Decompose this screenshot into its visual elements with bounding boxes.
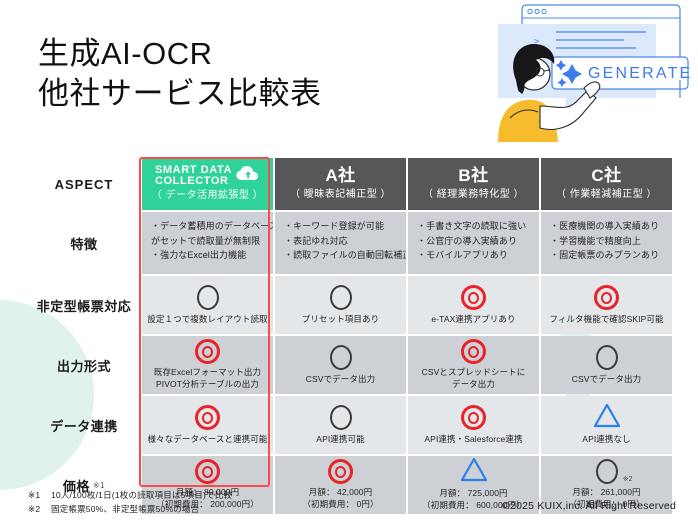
rating-circle-icon	[330, 345, 352, 370]
rating-circle-icon	[596, 459, 618, 484]
cell-r3-c0: 様々なデータベースと連携可能	[142, 396, 273, 454]
footnote-text: 固定帳票50%、非定型帳票50%の場合	[51, 502, 199, 516]
row-label-0: 特徴	[28, 212, 140, 274]
cell-r1-c0: 設定１つで複数レイアウト読取	[142, 276, 273, 334]
cell-note-line: データ出力	[422, 378, 526, 390]
cell-note-line: PIVOT分析テーブルの出力	[154, 378, 261, 390]
rating-double-circle-icon	[461, 339, 486, 364]
column-subtitle: （ 作業軽減補正型 ）	[556, 188, 657, 202]
feature-bullet: ・学習機能で精度向上	[550, 234, 664, 249]
rating-circle-icon	[596, 345, 618, 370]
cell-note-line: API連携なし	[582, 433, 630, 445]
column-company-name: B社	[458, 166, 488, 186]
column-subtitle: （ データ活用拡張型 ）	[152, 189, 264, 203]
feature-bullet: ・読取ファイルの自動回転補正	[284, 248, 398, 263]
column-company-name: C社	[591, 166, 621, 186]
page-title-line-2: 他社サービス比較表	[38, 74, 322, 114]
row-label-2: 出力形式	[28, 336, 140, 394]
cell-note: 設定１つで複数レイアウト読取	[147, 313, 267, 325]
cell-note-line: 既存Excelフォーマット出力	[154, 366, 261, 378]
cell-note: CSVでデータ出力	[306, 373, 375, 385]
cell-r0-c1: ・キーワード登録が可能・表記ゆれ対応・読取ファイルの自動回転補正	[275, 212, 406, 274]
cell-r2-c0: 既存Excelフォーマット出力PIVOT分析テーブルの出力	[142, 336, 273, 394]
cell-r0-c0: ・データ蓄積用のデータベースがセットで読取量が無制限・強力なExcel出力機能	[142, 212, 273, 274]
cell-note-line: 月額： 42,000円	[302, 486, 378, 498]
cell-r0-c2: ・手書き文字の読取に強い・公官庁の導入実績あり・モバイルアプリあり	[408, 212, 539, 274]
footnote-1: ※110人/100枚/1日(1枚の読取項目は5項目)で比較	[28, 488, 232, 502]
column-header-company-b[interactable]: B社（ 経理業務特化型 ）	[408, 158, 539, 210]
column-company-name: A社	[325, 166, 355, 186]
cloud-upload-icon	[236, 165, 260, 187]
rating-double-circle-icon	[195, 405, 220, 430]
rating-double-circle-icon	[195, 339, 220, 364]
cell-note: フィルタ機能で確認SKIP可能	[549, 313, 663, 325]
cell-note: 既存Excelフォーマット出力PIVOT分析テーブルの出力	[154, 366, 261, 390]
svg-text:GENERATE: GENERATE	[588, 65, 692, 82]
cell-note-line: API連携可能	[316, 433, 364, 445]
column-subtitle: （ 曖昧表記補正型 ）	[290, 188, 391, 202]
cell-note-line: e-TAX連携アプリあり	[431, 313, 515, 325]
cell-note: CSVとスプレッドシートにデータ出力	[422, 366, 526, 390]
cell-note: 様々なデータベースと連携可能	[148, 433, 268, 445]
feature-bullet: がセットで読取量が無制限	[151, 234, 265, 249]
cell-r1-c1: プリセット項目あり	[275, 276, 406, 334]
page-title: 生成AI-OCR 他社サービス比較表	[38, 34, 322, 114]
column-header-smart-data-collector[interactable]: SMART DATACOLLECTOR（ データ活用拡張型 ）	[142, 158, 273, 210]
aspect-header: ASPECT	[28, 158, 140, 210]
feature-bullet: ・手書き文字の読取に強い	[417, 219, 531, 234]
feature-bullet: ・固定帳票のみプランあり	[550, 248, 664, 263]
copyright: ©2025 KUIX,inc. All Right Reserved	[502, 500, 676, 512]
cell-r3-c3: API連携なし	[541, 396, 672, 454]
cell-r1-c3: フィルタ機能で確認SKIP可能	[541, 276, 672, 334]
cell-note-line: 月額： 725,000円	[422, 487, 525, 499]
cell-note-line: フィルタ機能で確認SKIP可能	[549, 313, 663, 325]
column-subtitle: （ 経理業務特化型 ）	[423, 188, 524, 202]
rating-double-circle-icon	[195, 459, 220, 484]
cell-note: 月額： 42,000円（初期費用： 0円）	[302, 486, 378, 510]
cell-note: CSVでデータ出力	[572, 373, 641, 385]
column-header-company-c[interactable]: C社（ 作業軽減補正型 ）	[541, 158, 672, 210]
feature-bullet: ・表記ゆれ対応	[284, 234, 398, 249]
rating-double-circle-icon	[594, 285, 619, 310]
logo-line-2: COLLECTOR	[155, 176, 229, 187]
cell-note-line: （初期費用： 0円）	[302, 498, 378, 510]
cell-r1-c2: e-TAX連携アプリあり	[408, 276, 539, 334]
slide-canvas: >_ GENERATE 生成	[0, 0, 698, 523]
cell-r0-c3: ・医療機関の導入実績あり・学習機能で精度向上・固定帳票のみプランあり	[541, 212, 672, 274]
rating-triangle-icon	[593, 403, 621, 433]
footnote-marker: ※2	[28, 502, 44, 516]
cell-r4-c1: 月額： 42,000円（初期費用： 0円）	[275, 456, 406, 514]
feature-bullet: ・公官庁の導入実績あり	[417, 234, 531, 249]
cell-r3-c1: API連携可能	[275, 396, 406, 454]
cell-note-line: プリセット項目あり	[302, 313, 379, 325]
rating-double-circle-icon	[328, 459, 353, 484]
smart-data-collector-logo: SMART DATACOLLECTOR	[155, 165, 260, 187]
rating-triangle-icon	[460, 457, 488, 487]
footnote-marker: ※1	[28, 488, 44, 502]
cell-note: e-TAX連携アプリあり	[431, 313, 515, 325]
ai-generate-illustration: >_ GENERATE	[484, 2, 696, 142]
column-header-company-a[interactable]: A社（ 曖昧表記補正型 ）	[275, 158, 406, 210]
rating-double-circle-icon	[461, 405, 486, 430]
cell-r2-c1: CSVでデータ出力	[275, 336, 406, 394]
cell-note: API連携可能	[316, 433, 364, 445]
row-label-3: データ連携	[28, 396, 140, 454]
cell-note: API連携・Salesforce連携	[424, 433, 522, 445]
rating-double-circle-icon	[461, 285, 486, 310]
comparison-table: ASPECTSMART DATACOLLECTOR（ データ活用拡張型 ）A社（…	[28, 158, 672, 514]
cell-note: プリセット項目あり	[302, 313, 379, 325]
cell-note: API連携なし	[582, 433, 630, 445]
cell-note-line: CSVでデータ出力	[306, 373, 375, 385]
cell-r3-c2: API連携・Salesforce連携	[408, 396, 539, 454]
page-title-line-1: 生成AI-OCR	[38, 34, 322, 74]
footnotes: ※110人/100枚/1日(1枚の読取項目は5項目)で比較※2固定帳票50%、非…	[28, 488, 232, 516]
cell-note-line: CSVとスプレッドシートに	[422, 366, 526, 378]
rating-circle-icon	[197, 285, 219, 310]
cell-note-line: 月額： 261,000円	[568, 486, 644, 498]
feature-bullet: ・データ蓄積用のデータベース	[151, 219, 265, 234]
feature-bullet: ・医療機関の導入実績あり	[550, 219, 664, 234]
cell-r2-c3: CSVでデータ出力	[541, 336, 672, 394]
cell-r2-c2: CSVとスプレッドシートにデータ出力	[408, 336, 539, 394]
rating-circle-icon	[330, 285, 352, 310]
row-label-1: 非定型帳票対応	[28, 276, 140, 334]
feature-bullet: ・強力なExcel出力機能	[151, 248, 265, 263]
cell-note-line: 様々なデータベースと連携可能	[148, 433, 268, 445]
cell-note-line: CSVでデータ出力	[572, 373, 641, 385]
cell-note-line: 設定１つで複数レイアウト読取	[147, 313, 267, 325]
feature-bullet: ・モバイルアプリあり	[417, 248, 531, 263]
footnote-marker: ※2	[623, 475, 633, 483]
footnote-2: ※2固定帳票50%、非定型帳票50%の場合	[28, 502, 232, 516]
feature-bullet: ・キーワード登録が可能	[284, 219, 398, 234]
rating-circle-icon	[330, 405, 352, 430]
cell-note-line: API連携・Salesforce連携	[424, 433, 522, 445]
footnote-text: 10人/100枚/1日(1枚の読取項目は5項目)で比較	[51, 488, 232, 502]
